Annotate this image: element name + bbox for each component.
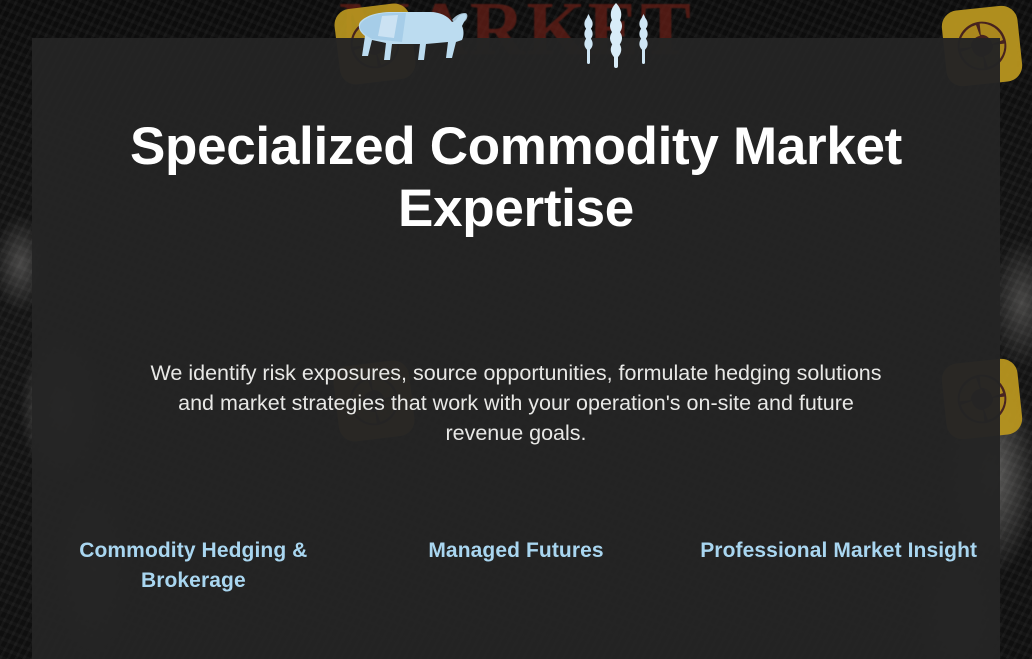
- service-title: Managed Futures: [365, 536, 668, 566]
- service-item[interactable]: Commodity Hedging & Brokerage: [32, 536, 355, 596]
- service-item[interactable]: Managed Futures: [355, 536, 678, 566]
- page-title: Specialized Commodity Market Expertise: [32, 116, 1000, 240]
- service-item[interactable]: Professional Market Insight: [677, 536, 1000, 566]
- page-root: MARKET: [0, 0, 1032, 659]
- service-title: Professional Market Insight: [687, 536, 990, 566]
- services-list: Commodity Hedging & Brokerage Managed Fu…: [32, 536, 1000, 596]
- service-title: Commodity Hedging & Brokerage: [42, 536, 345, 596]
- content-panel: Specialized Commodity Market Expertise W…: [32, 38, 1000, 659]
- hero-description: We identify risk exposures, source oppor…: [146, 358, 886, 448]
